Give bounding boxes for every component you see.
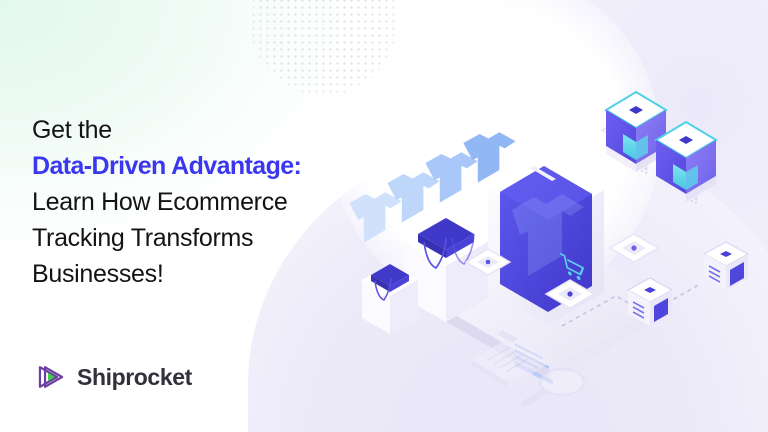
shiprocket-wordmark: Shiprocket xyxy=(77,364,192,391)
promo-banner: Get the Data-Driven Advantage: Learn How… xyxy=(0,0,768,432)
shiprocket-play-mark-icon xyxy=(34,360,68,394)
parcel-box-2 xyxy=(656,122,716,204)
parcel-box-4 xyxy=(704,242,748,290)
shiprocket-logo[interactable]: Shiprocket xyxy=(34,360,192,394)
illustration-isometric-ecommerce xyxy=(348,30,768,432)
scan-tile-4 xyxy=(610,234,658,262)
